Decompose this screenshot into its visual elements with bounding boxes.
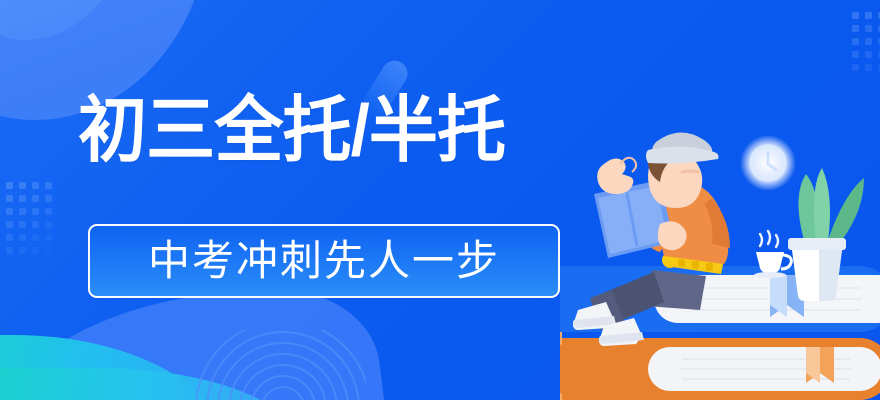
- grid-dot: [852, 38, 859, 45]
- grid-dot: [6, 234, 13, 241]
- grid-dot: [6, 195, 13, 202]
- organic-blob-icon: [0, 0, 140, 65]
- ring: [250, 375, 316, 400]
- grid-dot: [19, 195, 26, 202]
- grid-dot: [45, 195, 52, 202]
- grid-dot: [852, 25, 859, 32]
- grid-dot: [865, 12, 872, 19]
- grid-dot: [852, 12, 859, 19]
- grid-dot: [6, 208, 13, 215]
- dot-grid-icon: [852, 12, 880, 67]
- ring: [261, 386, 305, 400]
- grid-dot: [32, 247, 39, 254]
- grid-dot: [865, 38, 872, 45]
- grid-dot: [19, 247, 26, 254]
- grid-dot: [6, 221, 13, 228]
- grid-dot: [45, 208, 52, 215]
- concentric-rings-icon: [196, 330, 366, 400]
- grid-dot: [32, 234, 39, 241]
- orange-book-icon: [560, 338, 880, 400]
- cyan-wave-icon: [0, 368, 310, 400]
- ring: [239, 364, 327, 400]
- ring: [196, 330, 366, 400]
- grid-dot: [19, 182, 26, 189]
- grid-dot: [19, 208, 26, 215]
- grid-dot: [852, 51, 859, 58]
- ring: [206, 331, 360, 400]
- wall-clock-icon: [740, 135, 796, 191]
- grid-dot: [852, 64, 859, 71]
- grid-dot: [865, 25, 872, 32]
- page-title: 初三全托/半托: [78, 88, 505, 174]
- grid-dot: [6, 247, 13, 254]
- grid-dot: [19, 221, 26, 228]
- cyan-wave-icon: [0, 335, 230, 400]
- flat-cap-icon: [646, 132, 719, 163]
- grid-dot: [32, 182, 39, 189]
- grid-dot: [865, 51, 872, 58]
- grid-dot: [45, 234, 52, 241]
- grid-dot: [6, 182, 13, 189]
- grid-dot: [45, 221, 52, 228]
- subtitle-box: 中考冲刺先人一步: [88, 224, 560, 298]
- grid-dot: [32, 221, 39, 228]
- dot-grid-icon: [6, 182, 56, 267]
- ring: [217, 342, 349, 400]
- organic-blob-icon: [0, 0, 130, 40]
- grid-dot: [865, 64, 872, 71]
- grid-dot: [32, 208, 39, 215]
- subtitle-text: 中考冲刺先人一步: [148, 238, 500, 284]
- course-promo-banner: 初三全托/半托 中考冲刺先人一步: [0, 0, 880, 400]
- grid-dot: [45, 182, 52, 189]
- grid-dot: [32, 195, 39, 202]
- ring: [228, 353, 338, 400]
- grid-dot: [19, 234, 26, 241]
- illustration: [560, 120, 880, 400]
- grid-dot: [45, 247, 52, 254]
